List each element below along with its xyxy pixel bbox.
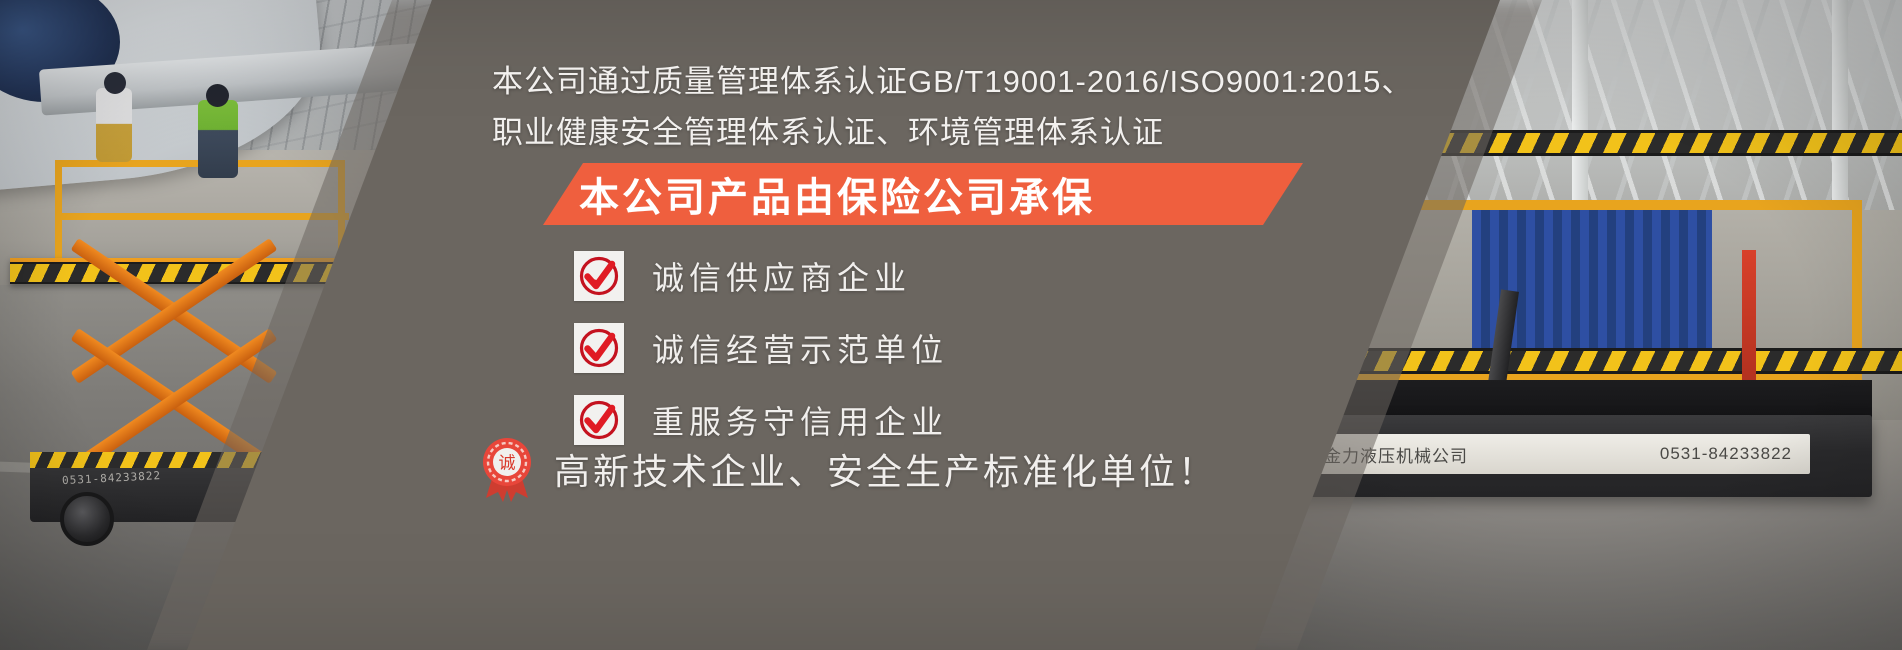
insurance-ribbon-text: 本公司产品由保险公司承保	[579, 165, 1095, 223]
certification-bullet-list: 诚信供应商企业 诚信经营示范单位 重服务守信	[574, 242, 948, 458]
list-item: 诚信经营示范单位	[574, 314, 948, 382]
svg-text:诚: 诚	[499, 454, 516, 473]
footer-highlight-row: 诚 高新技术企业、安全生产标准化单位！	[470, 432, 1217, 506]
footer-highlight-label: 高新技术企业、安全生产标准化单位！	[554, 443, 1217, 495]
headline-line-1: 本公司通过质量管理体系认证GB/T19001-2016/ISO9001:2015…	[492, 56, 1413, 101]
promo-banner: 0531-84233822 济南金力液压机械公司 0531-84233822 本…	[0, 0, 1902, 650]
list-item: 诚信供应商企业	[574, 242, 948, 310]
list-item-label: 诚信经营示范单位	[652, 325, 948, 371]
check-circle-icon	[574, 323, 624, 373]
headline-line-2: 职业健康安全管理体系认证、环境管理体系认证	[492, 107, 1164, 152]
list-item-label: 诚信供应商企业	[652, 253, 911, 299]
check-circle-icon	[574, 251, 624, 301]
insurance-ribbon: 本公司产品由保险公司承保	[543, 163, 1303, 225]
medal-ribbon-icon: 诚	[470, 432, 544, 506]
banner-content: 本公司通过质量管理体系认证GB/T19001-2016/ISO9001:2015…	[0, 0, 1902, 650]
